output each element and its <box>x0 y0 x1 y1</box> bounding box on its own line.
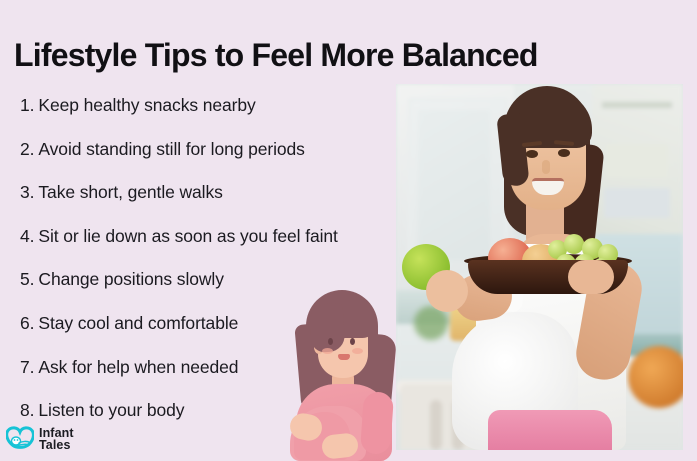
brand-logo[interactable]: Infant Tales <box>6 426 74 452</box>
woman-eye-left <box>526 150 538 158</box>
list-item-number: 6. <box>20 313 34 333</box>
list-item-text: Avoid standing still for long periods <box>38 139 304 159</box>
list-item-text: Ask for help when needed <box>38 357 238 377</box>
shelf-edge <box>602 102 672 108</box>
shelf-box-upper <box>606 144 668 178</box>
list-item-number: 5. <box>20 269 34 289</box>
woman-nose <box>542 160 550 174</box>
list-item: 3.Take short, gentle walks <box>20 171 392 215</box>
list-item-number: 8. <box>20 400 34 420</box>
brand-logo-text: Infant Tales <box>39 427 74 452</box>
list-item-text: Change positions slowly <box>38 269 223 289</box>
brand-logo-line2: Tales <box>39 439 74 452</box>
woman-hand-right <box>568 260 614 294</box>
list-item-text: Listen to your body <box>38 400 184 420</box>
woman-hand-left <box>426 270 468 312</box>
list-item-text: Take short, gentle walks <box>38 182 222 202</box>
heart-cradle-baby-icon <box>6 426 34 452</box>
list-item-text: Sit or lie down as soon as you feel fain… <box>38 226 337 246</box>
infographic-canvas: Lifestyle Tips to Feel More Balanced 1.K… <box>0 0 697 461</box>
illustration-mouth <box>338 354 350 360</box>
pregnant-woman-illustration <box>284 286 402 461</box>
list-item-number: 3. <box>20 182 34 202</box>
list-item: 1.Keep healthy snacks nearby <box>20 84 392 128</box>
illustration-eye-right <box>350 338 355 345</box>
woman-eye-right <box>558 149 570 157</box>
woman-pink-trousers <box>488 410 612 450</box>
illustration-hair-bangs <box>308 303 345 353</box>
illustration-blush-right <box>352 348 363 354</box>
pumpkin-blur <box>628 346 683 408</box>
list-item: 4.Sit or lie down as soon as you feel fa… <box>20 215 392 259</box>
list-item-text: Keep healthy snacks nearby <box>38 95 255 115</box>
page-title: Lifestyle Tips to Feel More Balanced <box>14 35 684 75</box>
chair-slat <box>430 400 442 450</box>
list-item: 2.Avoid standing still for long periods <box>20 128 392 172</box>
illustration-eye-left <box>328 338 333 345</box>
list-item-number: 4. <box>20 226 34 246</box>
cabinet-left-inner-panel <box>418 110 490 260</box>
shelf-box-lower <box>604 188 670 218</box>
illustration-arm-right <box>360 391 394 455</box>
illustration-blush-left <box>322 348 333 354</box>
grape <box>564 234 584 254</box>
pregnant-woman-holding-fruit-bowl-photo <box>396 84 683 450</box>
list-item-text: Stay cool and comfortable <box>38 313 238 333</box>
list-item-number: 7. <box>20 357 34 377</box>
list-item-number: 1. <box>20 95 34 115</box>
list-item-number: 2. <box>20 139 34 159</box>
